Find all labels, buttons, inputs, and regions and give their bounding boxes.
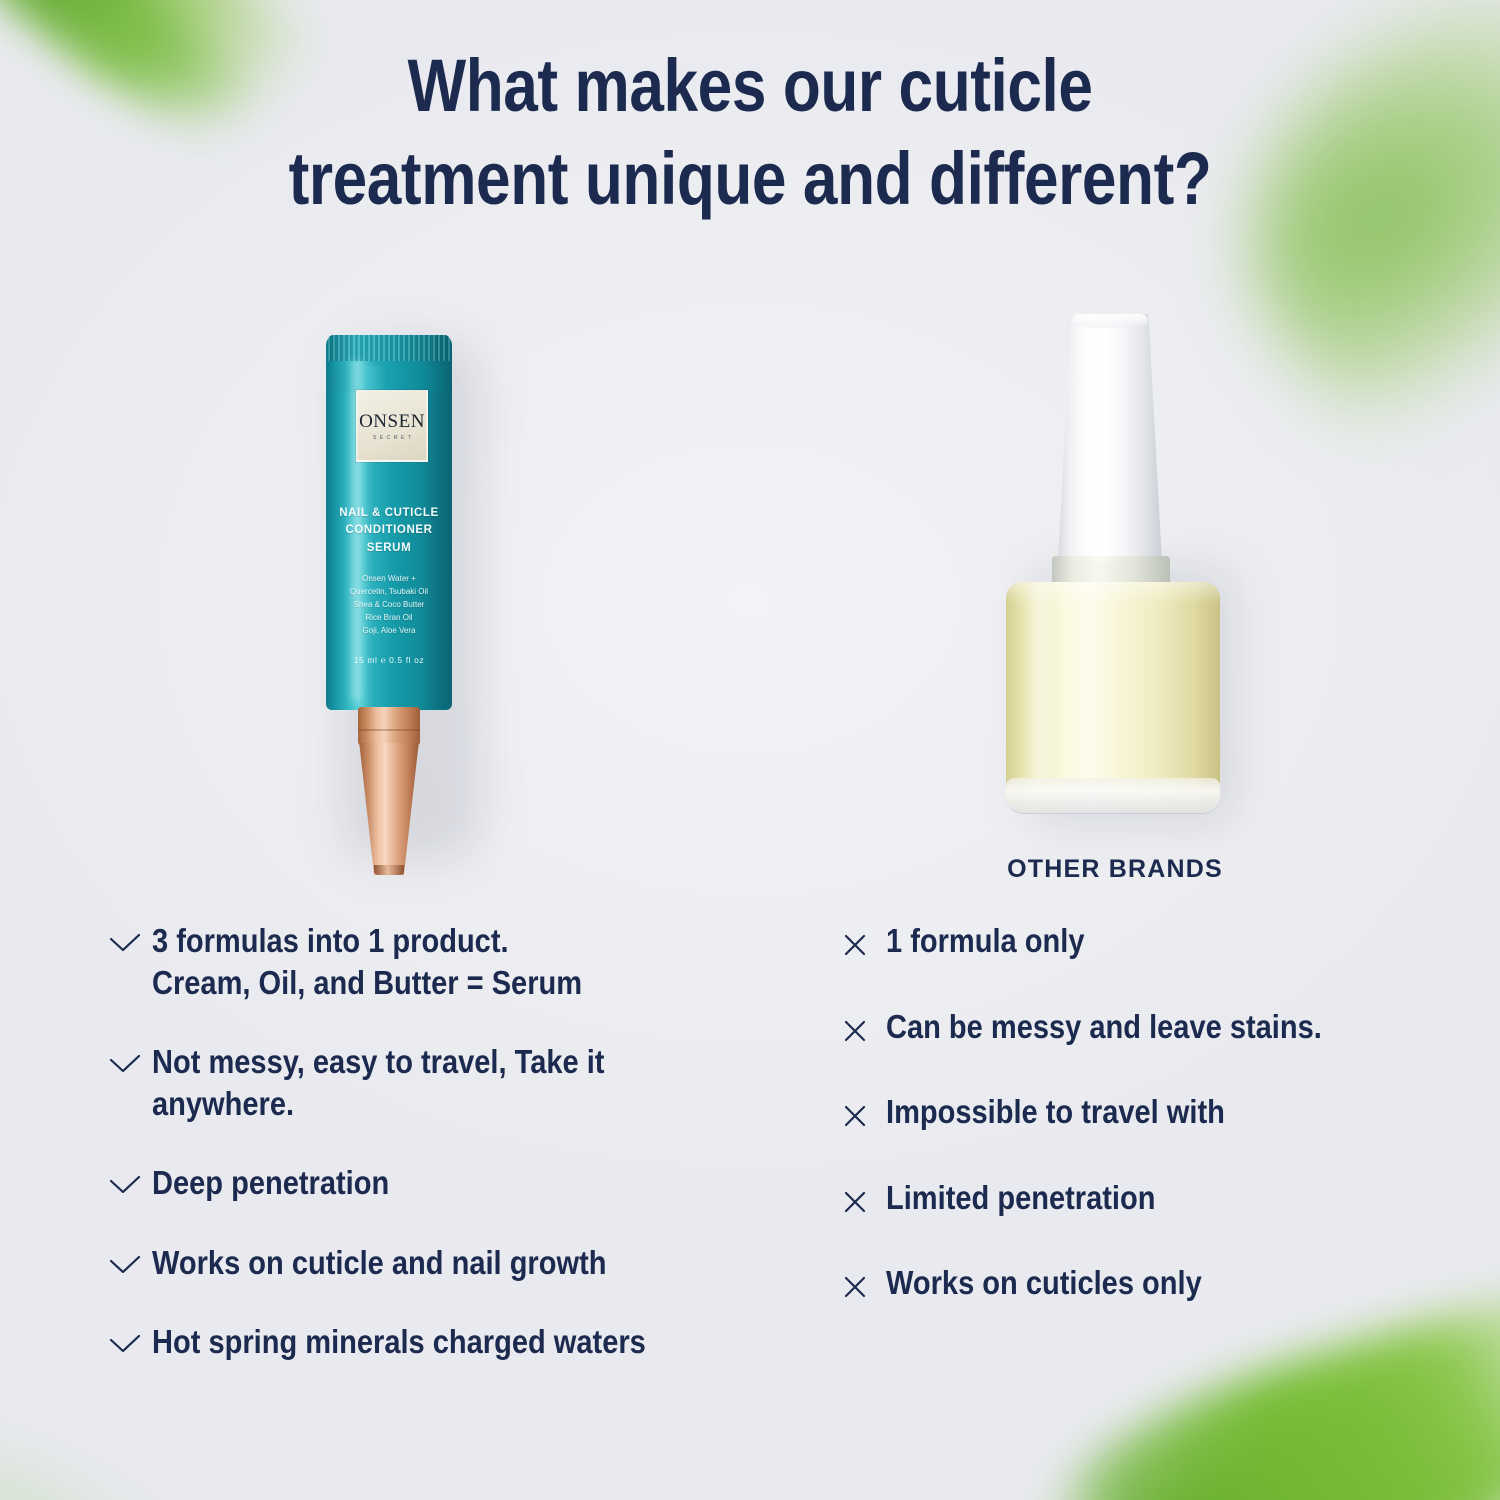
cross-icon <box>842 1006 886 1044</box>
check-icon <box>108 920 152 954</box>
product-comparison-images: ONSEN SECRET NAIL & CUTICLE CONDITIONER … <box>0 300 1500 900</box>
bottle-cap <box>1058 314 1162 562</box>
pros-item-text: Hot spring minerals charged waters <box>152 1321 646 1363</box>
page-title: What makes our cuticle treatment unique … <box>120 40 1380 225</box>
cons-item-text: Impossible to travel with <box>886 1091 1225 1133</box>
cons-list-item: Can be messy and leave stains. <box>842 1006 1482 1048</box>
brand-logo-wordmark: ONSEN <box>359 412 425 431</box>
tube-crimp-seal <box>328 335 450 361</box>
pros-list-item: Deep penetration <box>108 1162 808 1204</box>
pros-item-text: Works on cuticle and nail growth <box>152 1242 606 1284</box>
pros-item-text: Not messy, easy to travel, Take it anywh… <box>152 1041 604 1124</box>
pros-list-item: Hot spring minerals charged waters <box>108 1321 808 1363</box>
onsen-logo-badge: ONSEN SECRET <box>356 390 428 462</box>
tube-product-name-line-3: SERUM <box>326 540 452 557</box>
pros-list: 3 formulas into 1 product. Cream, Oil, a… <box>108 920 808 1401</box>
other-brand-bottle-image <box>1000 300 1230 830</box>
pros-list-item: Works on cuticle and nail growth <box>108 1242 808 1284</box>
onsen-secret-tube-image: ONSEN SECRET NAIL & CUTICLE CONDITIONER … <box>318 315 478 875</box>
check-icon <box>108 1041 152 1075</box>
pros-list-item: 3 formulas into 1 product. Cream, Oil, a… <box>108 920 808 1003</box>
leaf-decoration-bottom-left <box>0 1401 222 1500</box>
tube-product-name: NAIL & CUTICLE CONDITIONER SERUM <box>326 505 452 557</box>
cross-icon <box>842 1177 886 1215</box>
page-title-line-2: treatment unique and different? <box>120 133 1380 226</box>
other-brands-caption: OTHER BRANDS <box>890 855 1340 884</box>
page-title-line-1: What makes our cuticle <box>120 40 1380 133</box>
pros-item-text: 3 formulas into 1 product. Cream, Oil, a… <box>152 920 582 1003</box>
cons-list-item: Works on cuticles only <box>842 1262 1482 1304</box>
cons-list: 1 formula only Can be messy and leave st… <box>842 920 1482 1348</box>
pros-item-text: Deep penetration <box>152 1162 389 1204</box>
cons-item-text: Can be messy and leave stains. <box>886 1006 1322 1048</box>
tube-ingredient-list: Onsen Water + Quercetin, Tsubaki Oil She… <box>326 573 452 638</box>
tube-net-volume: 15 ml ℮ 0.5 fl oz <box>326 655 452 665</box>
tube-ingredient-item: Shea & Coco Butter <box>326 599 452 612</box>
pros-list-item: Not messy, easy to travel, Take it anywh… <box>108 1041 808 1124</box>
tube-product-name-line-1: NAIL & CUTICLE <box>326 505 452 522</box>
bottle-base <box>1006 778 1220 814</box>
check-icon <box>108 1321 152 1355</box>
tube-ingredient-item: Onsen Water + <box>326 573 452 586</box>
tube-ingredient-item: Rice Bran Oil <box>326 612 452 625</box>
bottle-glass-body <box>1006 582 1220 810</box>
tube-ingredient-item: Quercetin, Tsubaki Oil <box>326 586 452 599</box>
tube-product-name-line-2: CONDITIONER <box>326 522 452 539</box>
cons-list-item: Limited penetration <box>842 1177 1482 1219</box>
infographic-canvas: What makes our cuticle treatment unique … <box>0 0 1500 1500</box>
check-icon <box>108 1162 152 1196</box>
brand-logo-tagline: SECRET <box>373 435 415 441</box>
cons-item-text: Limited penetration <box>886 1177 1155 1219</box>
check-icon <box>108 1242 152 1276</box>
cons-item-text: 1 formula only <box>886 920 1084 962</box>
tube-ingredient-item: Goji, Aloe Vera <box>326 625 452 638</box>
cons-list-item: 1 formula only <box>842 920 1482 962</box>
cross-icon <box>842 1091 886 1129</box>
cons-item-text: Works on cuticles only <box>886 1262 1202 1304</box>
cross-icon <box>842 1262 886 1300</box>
tube-neck <box>358 707 420 745</box>
cons-list-item: Impossible to travel with <box>842 1091 1482 1133</box>
cross-icon <box>842 920 886 958</box>
